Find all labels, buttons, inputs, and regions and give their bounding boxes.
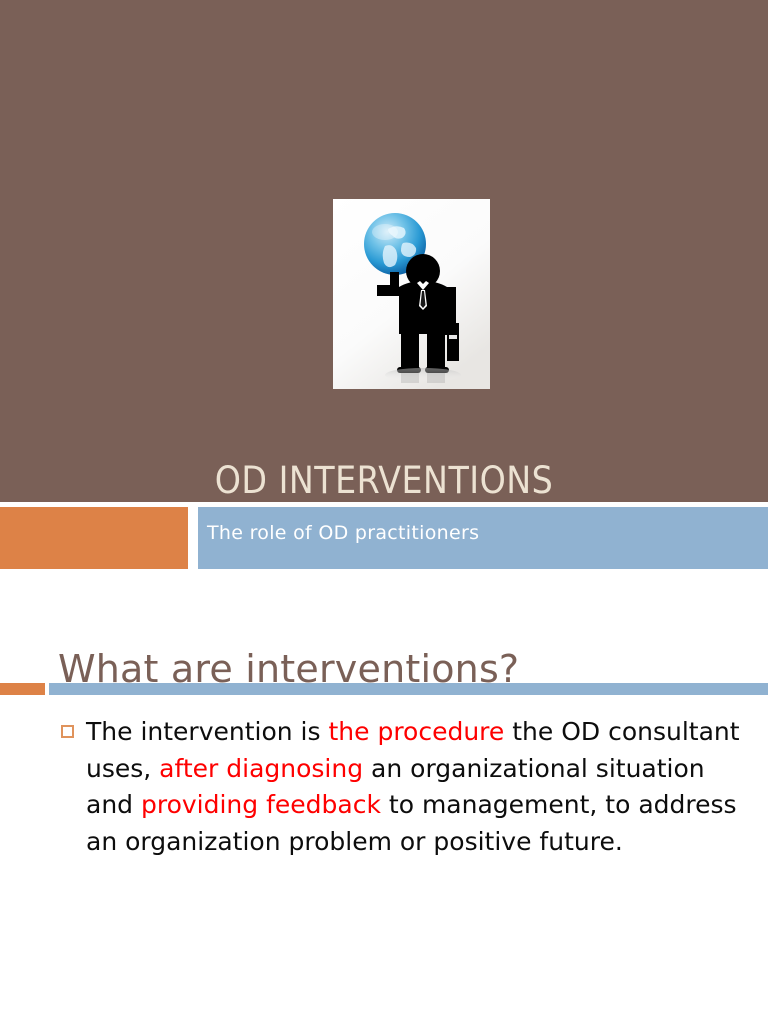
page-title: OD INTERVENTIONS: [0, 459, 768, 503]
highlighted-phrase: the procedure: [328, 717, 504, 746]
list-item: The intervention is the procedure the OD…: [56, 714, 746, 860]
hollow-square-bullet-icon: [61, 725, 74, 738]
section-rule-orange: [0, 683, 45, 695]
body-text-run: The intervention is: [86, 717, 328, 746]
list-item-text: The intervention is the procedure the OD…: [86, 717, 740, 856]
section-rule-blue: [49, 683, 768, 695]
page-subtitle: The role of OD practitioners: [207, 522, 479, 544]
title-accent-bar-orange: [0, 507, 188, 569]
businessman-globe-icon: [333, 199, 490, 389]
content-slide: What are interventions? The intervention…: [0, 569, 768, 1024]
highlighted-phrase: after diagnosing: [159, 754, 363, 783]
highlighted-phrase: providing feedback: [141, 790, 381, 819]
businessman-holding-globe-illustration: [333, 199, 490, 389]
bullet-list: The intervention is the procedure the OD…: [56, 714, 746, 860]
title-slide: OD INTERVENTIONS The role of OD practiti…: [0, 0, 768, 569]
